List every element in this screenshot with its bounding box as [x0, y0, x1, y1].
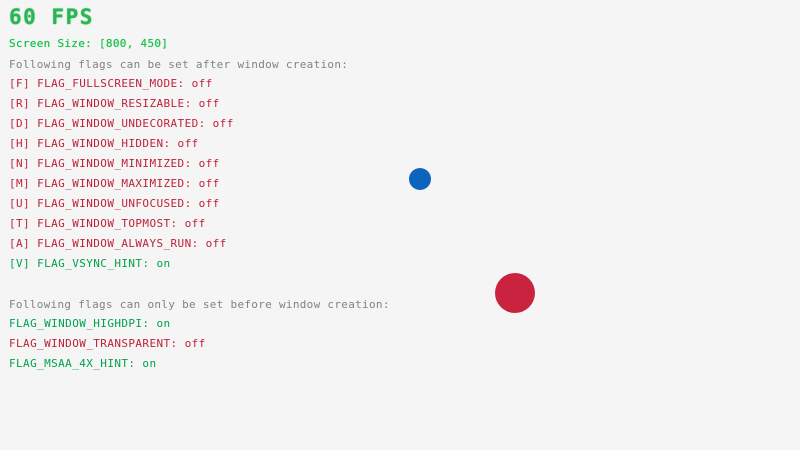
flag-row-window-transparent: FLAG_WINDOW_TRANSPARENT: off: [9, 338, 206, 349]
flag-row-window-always-run[interactable]: [A] FLAG_WINDOW_ALWAYS_RUN: off: [9, 238, 227, 249]
flag-row-window-maximized[interactable]: [M] FLAG_WINDOW_MAXIMIZED: off: [9, 178, 220, 189]
flag-row-window-unfocused[interactable]: [U] FLAG_WINDOW_UNFOCUSED: off: [9, 198, 220, 209]
screen-size-label: Screen Size: [800, 450]: [9, 38, 168, 49]
flag-row-msaa-4x-hint: FLAG_MSAA_4X_HINT: on: [9, 358, 156, 369]
flag-row-window-undecorated[interactable]: [D] FLAG_WINDOW_UNDECORATED: off: [9, 118, 234, 129]
flag-row-window-highdpi: FLAG_WINDOW_HIGHDPI: on: [9, 318, 171, 329]
section-header-before-creation: Following flags can only be set before w…: [9, 299, 390, 310]
flag-row-window-hidden[interactable]: [H] FLAG_WINDOW_HIDDEN: off: [9, 138, 199, 149]
hud-overlay: 60 FPS Screen Size: [800, 450] Following…: [0, 0, 800, 450]
flag-row-window-topmost[interactable]: [T] FLAG_WINDOW_TOPMOST: off: [9, 218, 206, 229]
raylib-window-flags-demo: 60 FPS Screen Size: [800, 450] Following…: [0, 0, 800, 450]
flag-row-window-minimized[interactable]: [N] FLAG_WINDOW_MINIMIZED: off: [9, 158, 220, 169]
flag-row-vsync-hint[interactable]: [V] FLAG_VSYNC_HINT: on: [9, 258, 171, 269]
section-header-after-creation: Following flags can be set after window …: [9, 59, 348, 70]
flag-row-fullscreen-mode[interactable]: [F] FLAG_FULLSCREEN_MODE: off: [9, 78, 213, 89]
fps-counter: 60 FPS: [9, 7, 94, 28]
flag-row-window-resizable[interactable]: [R] FLAG_WINDOW_RESIZABLE: off: [9, 98, 220, 109]
